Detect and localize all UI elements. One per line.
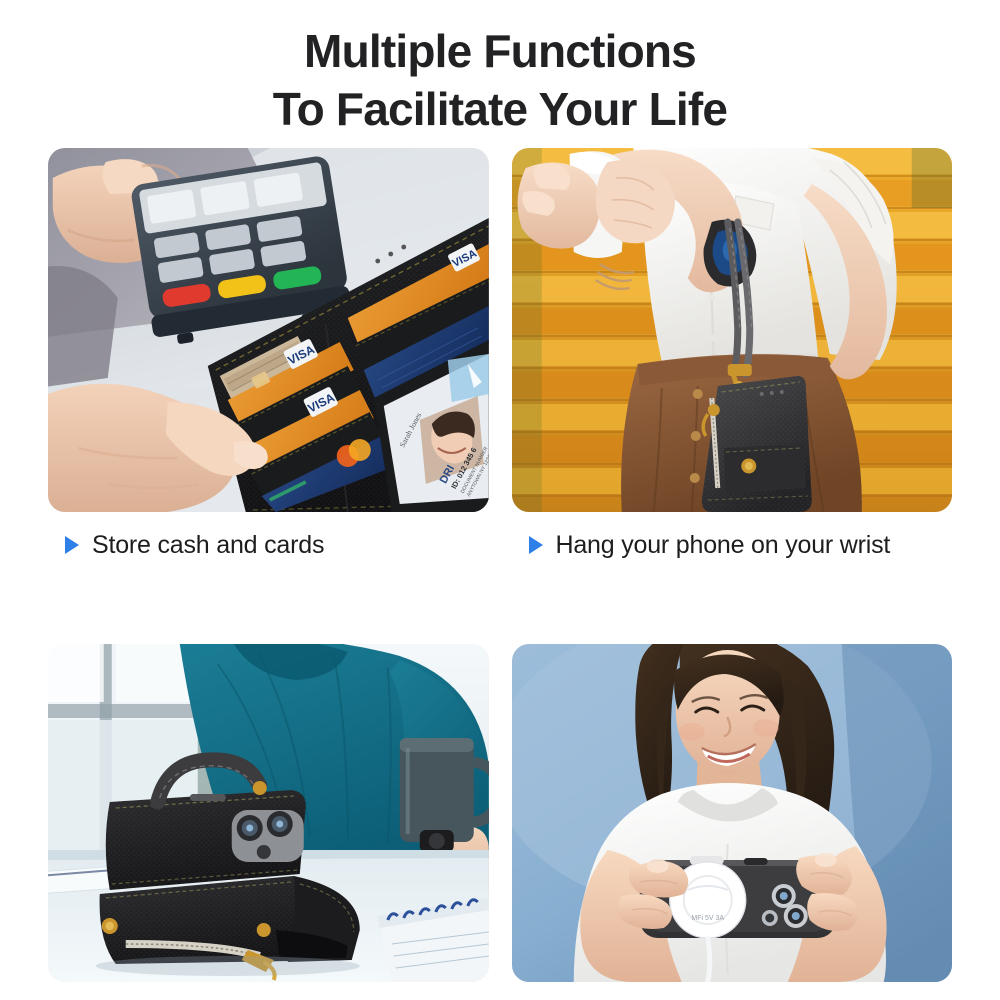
feature-card-hang-phone-on-wrist: Hang your phone on your wrist — [512, 148, 953, 578]
charging-cable — [707, 938, 709, 982]
caption-text: Store cash and cards — [92, 531, 324, 560]
feature-card-supports-magnetic-charging: MFi 5V 3A — [512, 644, 953, 1000]
product-feature-page: Multiple Functions To Facilitate Your Li… — [0, 0, 1000, 1000]
dark-mug — [400, 738, 474, 842]
photo-hang-phone-on-wrist — [512, 148, 953, 512]
feature-card-stand-phone-on-table: Stand your phone on the table — [48, 644, 489, 1000]
caption-stand-phone-on-table: Stand your phone on the table — [48, 982, 489, 1000]
page-title: Multiple Functions To Facilitate Your Li… — [0, 22, 1000, 139]
illustration-kickstand — [48, 644, 489, 982]
title-line-1: Multiple Functions — [0, 22, 1000, 80]
caption-text: Hang your phone on your wrist — [556, 531, 891, 560]
photo-stand-phone-on-table — [48, 644, 489, 982]
caption-supports-magnetic-charging: Supports magnetic charging — [512, 982, 953, 1000]
feature-row-2: Stand your phone on the table — [48, 644, 952, 1000]
caption-store-cash-and-cards: Store cash and cards — [48, 512, 489, 578]
triangle-right-icon — [65, 536, 79, 554]
illustration-wrist-strap — [512, 148, 953, 512]
title-line-2: To Facilitate Your Life — [0, 80, 1000, 138]
photo-supports-magnetic-charging: MFi 5V 3A — [512, 644, 953, 982]
triangle-right-icon — [529, 536, 543, 554]
feature-card-store-cash-and-cards: VISA VISA — [48, 148, 489, 578]
feature-row-1: VISA VISA — [48, 148, 952, 578]
wallet-case — [701, 376, 811, 512]
illustration-wallet-payment: VISA VISA — [48, 148, 489, 512]
caption-hang-phone-on-wrist: Hang your phone on your wrist — [512, 512, 953, 578]
feature-grid: VISA VISA — [48, 148, 952, 1000]
gold-rivet-right — [257, 923, 271, 937]
illustration-magsafe: MFi 5V 3A — [512, 644, 953, 982]
svg-text:MFi 5V 3A: MFi 5V 3A — [691, 915, 724, 922]
photo-store-cash-and-cards: VISA VISA — [48, 148, 489, 512]
